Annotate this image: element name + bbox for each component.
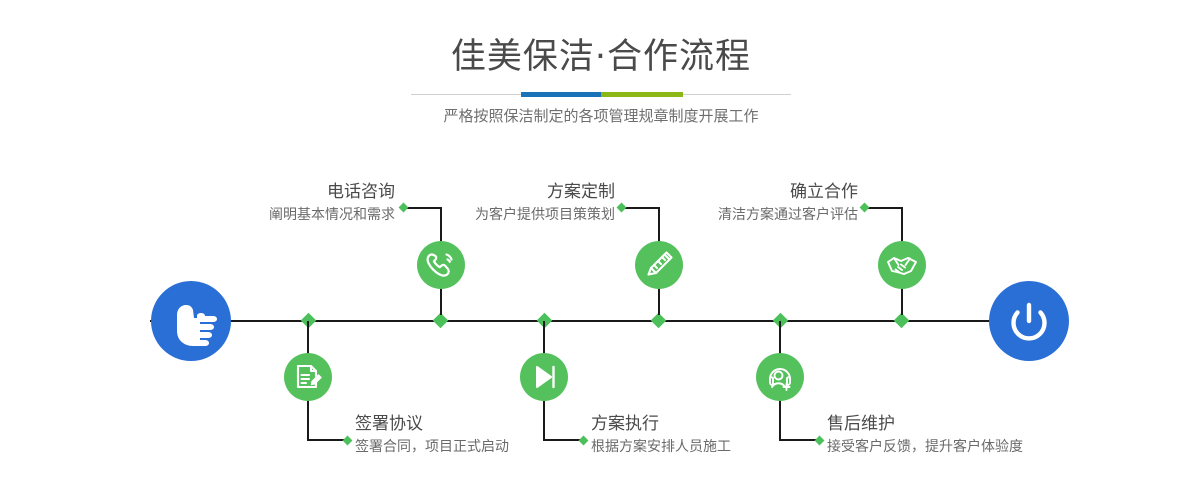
power-icon bbox=[989, 281, 1069, 361]
page-header: 佳美保洁·合作流程 严格按照保洁制定的各项管理规章制度开展工作 bbox=[0, 0, 1202, 150]
step-5-label: 确立合作 清洁方案通过客户评估 bbox=[565, 180, 858, 226]
phone-call-icon bbox=[417, 241, 465, 289]
timeline-axis bbox=[150, 320, 1052, 322]
step-1-icon-circle[interactable] bbox=[417, 241, 465, 289]
timeline-start-marker bbox=[151, 281, 231, 361]
step-6-desc: 接受客户反馈，提升客户体验度 bbox=[827, 436, 1167, 458]
step-6-connector-horizontal bbox=[779, 439, 819, 441]
step-3-icon-circle[interactable] bbox=[635, 241, 683, 289]
step-4-connector-horizontal bbox=[543, 439, 583, 441]
axis-diamond-3 bbox=[651, 313, 667, 329]
page-subtitle: 严格按照保洁制定的各项管理规章制度开展工作 bbox=[0, 104, 1202, 128]
axis-diamond-1 bbox=[433, 313, 449, 329]
timeline-end-marker bbox=[989, 281, 1069, 361]
step-2-label-diamond bbox=[343, 436, 353, 446]
step-5-title: 确立合作 bbox=[565, 180, 858, 204]
step-5-connector-horizontal bbox=[865, 207, 903, 209]
handshake-icon bbox=[878, 241, 926, 289]
play-forward-icon bbox=[520, 353, 568, 401]
document-edit-icon bbox=[284, 353, 332, 401]
step-2-connector-horizontal bbox=[307, 439, 347, 441]
headset-support-icon bbox=[756, 353, 804, 401]
process-timeline: 电话咨询 阐明基本情况和需求 签署协议 签署合同，项目正式启动 bbox=[0, 150, 1202, 502]
page-title: 佳美保洁·合作流程 bbox=[0, 34, 1202, 80]
step-6-icon-circle[interactable] bbox=[756, 353, 804, 401]
pointing-hand-icon bbox=[151, 281, 231, 361]
divider-segment-green bbox=[601, 92, 683, 97]
pencil-ruler-icon bbox=[635, 241, 683, 289]
step-6-label: 售后维护 接受客户反馈，提升客户体验度 bbox=[827, 412, 1167, 458]
title-divider bbox=[411, 92, 791, 97]
step-5-label-diamond bbox=[860, 203, 870, 213]
step-6-title: 售后维护 bbox=[827, 412, 1167, 436]
step-4-icon-circle[interactable] bbox=[520, 353, 568, 401]
step-2-icon-circle[interactable] bbox=[284, 353, 332, 401]
axis-diamond-5 bbox=[894, 313, 910, 329]
divider-segment-blue bbox=[521, 92, 601, 97]
step-5-desc: 清洁方案通过客户评估 bbox=[565, 204, 858, 226]
step-5-icon-circle[interactable] bbox=[878, 241, 926, 289]
